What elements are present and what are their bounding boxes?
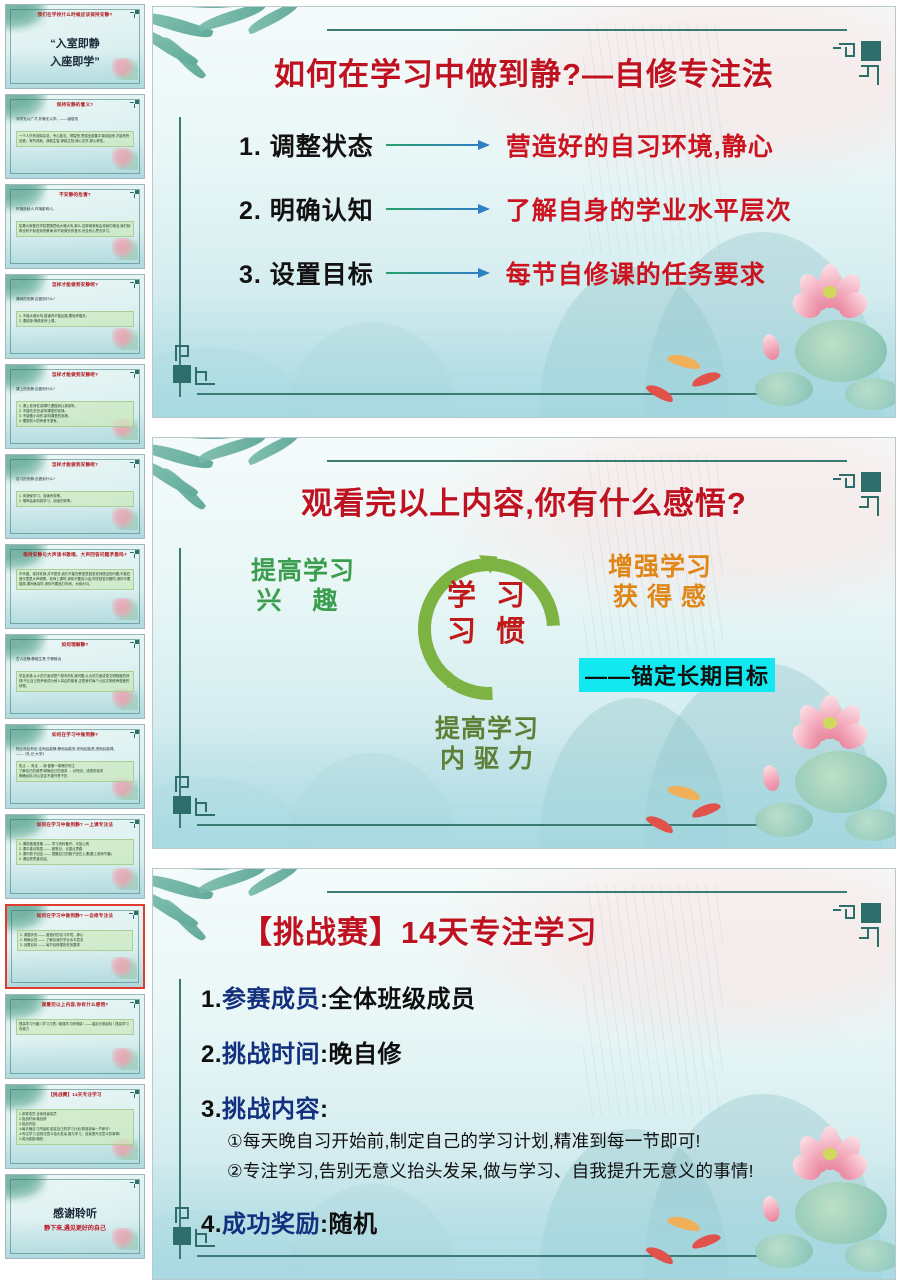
thumbnail-body-box: 不矛盾。保持安静,并不是说,我们不能在教室里回答老师提出的问题,不能在音乐里里大… [16, 569, 134, 590]
focus-method-row: 3. 设置目标每节自修课的任务要求 [239, 255, 855, 291]
slide-thumbnail-13[interactable]: 【挑战赛】14天专注学习1.参赛成员:全体班级成员2.挑战时间:晚自修3.挑战内… [5, 1084, 145, 1169]
learning-habit-cycle-diagram: 学 习 习 惯 提高学习 兴 趣 增强学习 获 得 感 提高学习 内 驱 力 —… [213, 534, 865, 838]
cycle-label-bottom: 提高学习 内 驱 力 [381, 714, 593, 774]
focus-method-row: 2. 明确认知了解自身的学业水平层次 [239, 191, 855, 227]
thumbnail-title: 怎样才能做到安静呢? [14, 372, 136, 378]
thumbnail-body-box: 1.参赛成员:全体班级成员2.挑战时间:晚自修3.挑战内容:①每天晚自习开始前,… [16, 1109, 134, 1145]
frame-line-left [179, 979, 181, 1259]
slide-stage: 如何在学习中做到静?—自修专注法 1. 调整状态营造好的自习环境,静心2. 明确… [150, 0, 900, 1286]
slide-title: 如何在学习中做到静?—自修专注法 [153, 49, 895, 94]
thumbnail-subtitle: 知止而后有定,定而后能静,静而后能安,安而后能虑,虑而后能得。——《礼记·大学》 [16, 747, 134, 757]
thumbnail-headline-1: 感谢聆听 [6, 1205, 144, 1221]
focus-method-step: 3. 设置目标 [239, 255, 374, 291]
slide-thumbnail-sidebar[interactable]: 我们在学校什么时候应该保持安静?“入室即静入座即学”保持安静的意义?非学无以广才… [0, 0, 150, 1286]
slide-self-study-focus[interactable]: 如何在学习中做到静?—自修专注法 1. 调整状态营造好的自习环境,静心2. 明确… [152, 6, 896, 418]
thumbnail-subtitle: 课间的安静,应做到什么? [16, 297, 134, 302]
thumbnail-subtitle: 古人说静:静能生慧,宁静致远 [16, 657, 134, 662]
thumbnail-frame [10, 999, 140, 1074]
frame-line-left [179, 117, 181, 397]
thumbnail-body-box: 1. 调整状态 —— 营造好的自习环境、静心2. 明确认知 —— 了解自身的学业… [17, 930, 133, 951]
focus-method-step: 1. 调整状态 [239, 127, 374, 163]
slide-thumbnail-9[interactable]: 如何在学习中做到静?知止而后有定,定而后能静,静而后能安,安而后能虑,虑而后能得… [5, 724, 145, 809]
thumbnail-body-box: 知止 → 有定 → 静 做第一事情的专注了解自己的维界,明确自己的追求 → 对知… [16, 761, 134, 782]
challenge-item-detail: ①每天晚自习开始前,制定自己的学习计划,精准到每一节即可! [227, 1128, 859, 1154]
thumbnail-title: 我们在学校什么时候应该保持安静? [14, 12, 136, 18]
slide-thumbnail-7[interactable]: 保持安静与大声读书歌唱、大声回答问题矛盾吗?不矛盾。保持安静,并不是说,我们不能… [5, 544, 145, 629]
cycle-center-line2: 习 惯 [421, 614, 557, 650]
cycle-label-right-line1: 增强学习 [565, 552, 755, 582]
focus-method-row: 1. 调整状态营造好的自习环境,静心 [239, 127, 855, 163]
cycle-center-label: 学 习 习 惯 [421, 578, 557, 650]
thumbnail-subtitle: 非学无以广才,非静无以学。——诸葛亮 [16, 117, 134, 122]
thumbnail-title: 怎样才能做到安静呢? [14, 462, 136, 468]
challenge-item: 1.参赛成员:全体班级成员 [201, 979, 859, 1014]
cycle-label-left-line1: 提高学习 [213, 556, 393, 586]
focus-method-description: 了解自身的学业水平层次 [506, 191, 792, 227]
thumbnail-title: 保持安静的意义? [14, 102, 136, 108]
cycle-label-bottom-line2: 内 驱 力 [381, 744, 593, 774]
challenge-item: 3.挑战内容:①每天晚自习开始前,制定自己的学习计划,精准到每一节即可!②专注学… [201, 1089, 859, 1184]
thumbnail-title: 如何理解静? [14, 642, 136, 648]
slide-thumbnail-12[interactable]: 观看完以上内容,你有什么感悟?提高学习兴趣 / 学习习惯 / 增强学习获得感 /… [5, 994, 145, 1079]
slide-title: 【挑战赛】14天专注学习 [241, 907, 895, 952]
cycle-label-left: 提高学习 兴 趣 [213, 556, 393, 616]
thumbnail-title: 怎样才能做到安静呢? [14, 282, 136, 288]
slide-thumbnail-2[interactable]: 保持安静的意义?非学无以广才,非静无以学。——诸葛亮一个人只有排除杂念、专心致志… [5, 94, 145, 179]
slide-reflection[interactable]: 观看完以上内容,你有什么感悟? 学 习 习 惯 提高学习 兴 趣 增强学习 获 … [152, 437, 896, 849]
slide-thumbnail-14[interactable]: 感谢聆听静下来,遇见更好的自己 [5, 1174, 145, 1259]
frame-rule-bottom [197, 393, 757, 395]
challenge-item-heading: 4.成功奖励:随机 [201, 1204, 859, 1239]
thumbnail-title: 如何在学习中做到静? [14, 732, 136, 738]
slide-thumbnail-1[interactable]: 我们在学校什么时候应该保持安静?“入室即静入座即学” [5, 4, 145, 89]
thumbnail-subtitle: 课上的安静,应做到什么? [16, 387, 134, 392]
thumbnail-body-box: 1. 不能大喊大叫,楼道内不能乱跑,要轻声慢步。2. 课前静,等候老师上课。 [16, 311, 134, 327]
slide-challenge[interactable]: 【挑战赛】14天专注学习 1.参赛成员:全体班级成员2.挑战时间:晚自修3.挑战… [152, 868, 896, 1280]
cycle-label-right: 增强学习 获 得 感 [565, 552, 755, 612]
title-rule-top [327, 460, 847, 462]
focus-method-description: 营造好的自习环境,静心 [506, 127, 774, 163]
slide-title: 观看完以上内容,你有什么感悟? [153, 478, 895, 523]
cycle-label-right-line2: 获 得 感 [565, 582, 755, 612]
challenge-item: 4.成功奖励:随机 [201, 1204, 859, 1239]
thumbnail-headline-1: “入室即静 [6, 35, 144, 51]
thumbnail-body-box: 一个人只有排除杂念、专心致志、得智慧,思感全部集中调动起来,才能有所创造、有所成… [16, 131, 134, 147]
challenge-list: 1.参赛成员:全体班级成员2.挑战时间:晚自修3.挑战内容:①每天晚自习开始前,… [201, 979, 859, 1259]
thumbnail-title: 如何在学习中做到静? 一自修专注法 [15, 913, 135, 919]
thumbnail-headline-2: 入座即学” [6, 53, 144, 69]
slide-thumbnail-10[interactable]: 如何在学习中做到静? 一上课专注法1. 课前做做准备 —— 学习资料备齐、平复心… [5, 814, 145, 899]
challenge-item-heading: 3.挑战内容: [201, 1089, 859, 1124]
thumbnail-title: 保持安静与大声读书歌唱、大声回答问题矛盾吗? [14, 552, 136, 558]
slide-thumbnail-6[interactable]: 怎样才能做到安静呢?自习的安静,应做到什么?1. 安静使学习、阅读有效率。2. … [5, 454, 145, 539]
cycle-label-left-line2: 兴 趣 [213, 586, 393, 616]
slide-thumbnail-8[interactable]: 如何理解静?古人说静:静能生慧,宁静致远学会安静,从小的方面讲是个基本的礼貌问题… [5, 634, 145, 719]
focus-method-description: 每节自修课的任务要求 [506, 255, 766, 291]
slide-thumbnail-5[interactable]: 怎样才能做到安静呢?课上的安静,应做到什么?1. 课上老师在讲课时,要做到认真倾… [5, 364, 145, 449]
thumbnail-body-box: 提高学习兴趣 / 学习习惯 / 增强学习获得感 / ——锚定长期目标 / 提高学… [16, 1019, 134, 1035]
thumbnail-body-box: 1. 课前做做准备 —— 学习资料备齐、平复心情2. 课中善动笔墨 —— 做笔记… [16, 839, 134, 865]
presentation-app: 我们在学校什么时候应该保持安静?“入室即静入座即学”保持安静的意义?非学无以广才… [0, 0, 900, 1286]
thumbnail-headline-2: 静下来,遇见更好的自己 [6, 1223, 144, 1232]
anchor-highlight-label: ——锚定长期目标 [579, 658, 775, 692]
thumbnail-body-box: 1. 安静使学习、阅读有效率。2. 喧哗会影响到学习、阅读的效率。 [16, 491, 134, 507]
thumbnail-body-box: 学会安静,从小的方面讲是个基本的礼貌问题,从大的方面讲是文明程度的体现!不让自己… [16, 671, 134, 692]
title-rule-top [327, 891, 847, 893]
thumbnail-title: 观看完以上内容,你有什么感悟? [14, 1002, 136, 1008]
focus-method-step: 2. 明确认知 [239, 191, 374, 227]
arrow-right-icon [386, 203, 490, 215]
cycle-center-line1: 学 习 [421, 578, 557, 614]
slide-thumbnail-4[interactable]: 怎样才能做到安静呢?课间的安静,应做到什么?1. 不能大喊大叫,楼道内不能乱跑,… [5, 274, 145, 359]
frame-line-left [179, 548, 181, 828]
challenge-item: 2.挑战时间:晚自修 [201, 1034, 859, 1069]
slide-thumbnail-3[interactable]: 不安静的危害?环境造就人,环境影响人。如果大家都在学校里随意地大喊大叫,那么,这… [5, 184, 145, 269]
thumbnail-title: 如何在学习中做到静? 一上课专注法 [14, 822, 136, 828]
arrow-right-icon [386, 267, 490, 279]
thumbnail-subtitle: 自习的安静,应做到什么? [16, 477, 134, 482]
cycle-label-bottom-line1: 提高学习 [381, 714, 593, 744]
challenge-item-heading: 1.参赛成员:全体班级成员 [201, 979, 859, 1014]
thumbnail-subtitle: 环境造就人,环境影响人。 [16, 207, 134, 212]
title-rule-top [327, 29, 847, 31]
thumbnail-body-box: 1. 课上老师在讲课时,要做到认真倾听。2. 不能吃东西,影响课堂的安静。3. … [16, 401, 134, 427]
challenge-item-detail: ②专注学习,告别无意义抬头发呆,做与学习、自我提升无意义的事情! [227, 1158, 859, 1184]
slide-thumbnail-11[interactable]: 如何在学习中做到静? 一自修专注法1. 调整状态 —— 营造好的自习环境、静心2… [5, 904, 145, 989]
challenge-item-heading: 2.挑战时间:晚自修 [201, 1034, 859, 1069]
ornament-corner-icon [130, 1180, 139, 1189]
thumbnail-title: 不安静的危害? [14, 192, 136, 198]
thumbnail-title: 【挑战赛】14天专注学习 [14, 1092, 136, 1098]
thumbnail-body-box: 如果大家都在学校里随意地大喊大叫,那么,这种噪音就会将我们淹没,我们就再也听不到… [16, 221, 134, 237]
focus-method-list: 1. 调整状态营造好的自习环境,静心2. 明确认知了解自身的学业水平层次3. 设… [239, 127, 855, 319]
arrow-right-icon [386, 139, 490, 151]
